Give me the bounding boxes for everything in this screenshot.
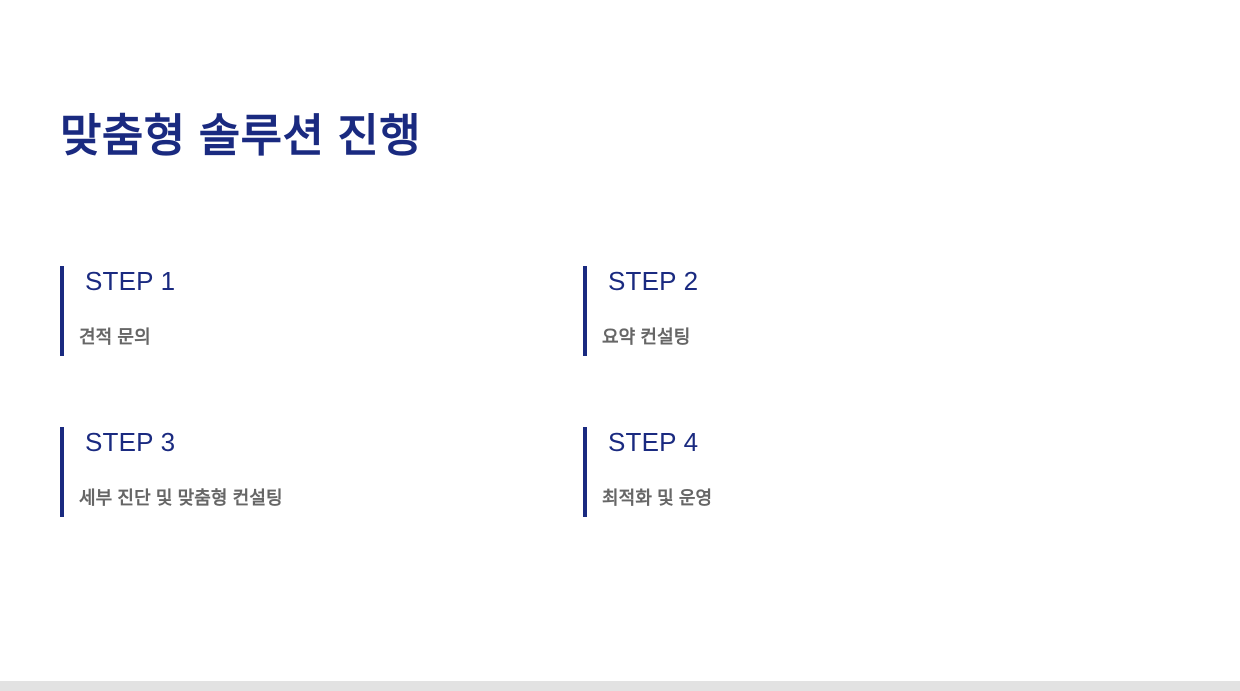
step-label-4: STEP 4 [608, 427, 698, 458]
step-card-2[interactable]: STEP 2 요약 컨설팅 [583, 266, 1053, 356]
step-description-2: 요약 컨설팅 [602, 323, 690, 349]
bottom-divider-band [0, 681, 1240, 691]
step-description-1: 견적 문의 [79, 323, 151, 349]
step-card-1[interactable]: STEP 1 견적 문의 [60, 266, 530, 356]
step-description-3: 세부 진단 및 맞춤형 컨설팅 [79, 484, 283, 510]
step-label-1: STEP 1 [85, 266, 175, 297]
step-card-4[interactable]: STEP 4 최적화 및 운영 [583, 427, 1053, 517]
step-label-3: STEP 3 [85, 427, 175, 458]
step-label-2: STEP 2 [608, 266, 698, 297]
slide-canvas: 맞춤형 솔루션 진행 STEP 1 견적 문의 STEP 2 요약 컨설팅 ST… [0, 0, 1240, 681]
steps-grid: STEP 1 견적 문의 STEP 2 요약 컨설팅 STEP 3 세부 진단 … [0, 0, 1240, 681]
step-card-3[interactable]: STEP 3 세부 진단 및 맞춤형 컨설팅 [60, 427, 530, 517]
step-description-4: 최적화 및 운영 [602, 484, 712, 510]
